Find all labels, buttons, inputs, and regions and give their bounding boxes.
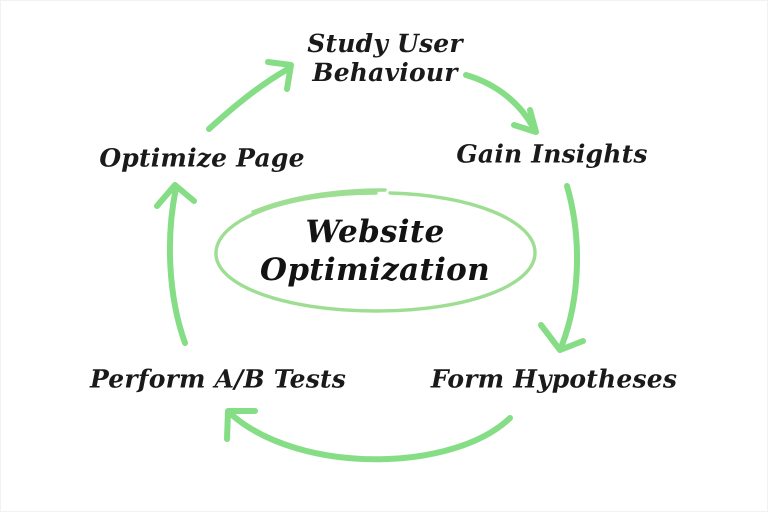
node-label-form-hypotheses[interactable]: Form Hypotheses xyxy=(414,365,694,394)
arrow-insights-to-hypotheses xyxy=(541,186,583,350)
center-node[interactable]: Website Optimization xyxy=(205,213,545,289)
diagram-canvas: Study User Behaviour Gain Insights Form … xyxy=(0,0,768,512)
node-label-gain-insights[interactable]: Gain Insights xyxy=(422,140,682,169)
arrow-tests-to-optimize xyxy=(157,185,194,343)
node-label-study-user-behaviour[interactable]: Study User Behaviour xyxy=(235,29,535,87)
node-label-perform-ab-tests[interactable]: Perform A/B Tests xyxy=(68,365,368,394)
center-node-label: Website Optimization xyxy=(205,213,545,289)
arrow-hypotheses-to-tests xyxy=(227,411,510,459)
node-label-optimize-page[interactable]: Optimize Page xyxy=(62,144,342,173)
